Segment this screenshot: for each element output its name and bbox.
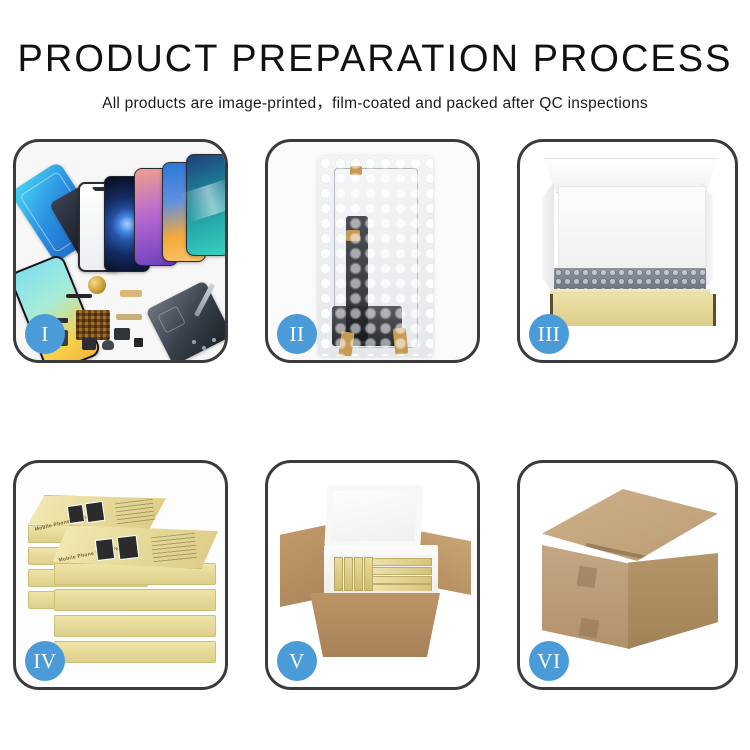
connector-part-icon	[120, 290, 142, 297]
yellow-box-item	[372, 576, 432, 584]
tape-tab-icon	[338, 331, 354, 356]
step-numeral-badge: I	[25, 314, 65, 354]
process-step-3[interactable]: III	[517, 139, 738, 363]
white-foam-sheet-icon	[558, 186, 706, 272]
box-lid-product-image	[117, 535, 140, 560]
yellow-box-item	[354, 557, 363, 591]
stacked-box-side	[54, 615, 216, 637]
carton-front-icon	[310, 593, 440, 657]
carton-tape-icon	[579, 618, 599, 638]
small-part-c-icon	[116, 314, 142, 320]
box-lid-spec-text	[151, 533, 197, 563]
tape-tab-icon	[350, 166, 362, 175]
process-step-1[interactable]: I	[13, 139, 228, 363]
stacked-box-side	[54, 641, 216, 663]
process-step-2[interactable]: II	[265, 139, 480, 363]
header: PRODUCT PREPARATION PROCESS All products…	[0, 0, 750, 113]
step-numeral-badge: II	[277, 314, 317, 354]
phone-screen-teal-icon	[186, 154, 225, 256]
tape-tab-icon	[346, 230, 360, 241]
process-step-4[interactable]: Mobile Phone Spare Parts Mobile Phone Sp…	[13, 460, 228, 690]
foam-box-lid-icon	[324, 485, 423, 547]
flex-cable-part-icon	[66, 294, 92, 298]
step-numeral-badge: V	[277, 641, 317, 681]
yellow-box-item	[372, 558, 432, 566]
screw-icon	[202, 346, 206, 350]
page-subtitle: All products are image-printed，film-coat…	[0, 91, 750, 113]
infographic-page: PRODUCT PREPARATION PROCESS All products…	[0, 0, 750, 750]
box-front-panel-icon	[550, 294, 716, 326]
tape-tab-icon	[393, 327, 409, 354]
box-lid-spec-text	[115, 499, 155, 525]
process-step-6[interactable]: VI	[517, 460, 738, 690]
small-part-e-icon	[82, 338, 96, 350]
speaker-part-icon	[102, 340, 114, 350]
carton-top-icon	[542, 489, 718, 561]
step-numeral-badge: IV	[25, 641, 65, 681]
page-title: PRODUCT PREPARATION PROCESS	[0, 40, 750, 78]
process-grid: I II	[13, 139, 737, 690]
screw-icon	[212, 338, 216, 342]
foam-cavity-icon	[330, 555, 434, 591]
carton-tape-icon	[577, 566, 598, 588]
step-numeral-badge: III	[529, 314, 569, 354]
phone-chassis-icon	[146, 280, 225, 360]
yellow-box-item	[372, 584, 432, 591]
box-lid-product-image	[67, 504, 85, 524]
screw-tray-icon	[76, 310, 110, 340]
stacked-box-side	[54, 589, 216, 611]
chip-part-icon	[88, 276, 106, 294]
box-lid-product-image	[85, 501, 106, 523]
box-side-left-icon	[542, 182, 554, 294]
step-numeral-badge: VI	[529, 641, 569, 681]
process-step-5[interactable]: V	[265, 460, 480, 690]
yellow-box-item	[344, 557, 353, 591]
bubble-wrap-bag-icon	[318, 156, 433, 356]
yellow-box-item	[334, 557, 343, 591]
box-lid-product-image	[95, 538, 115, 561]
small-part-d-icon	[114, 328, 130, 340]
screw-icon	[192, 340, 196, 344]
carton-right-face-icon	[628, 553, 718, 649]
yellow-box-item	[372, 567, 432, 575]
small-part-h-icon	[134, 338, 143, 347]
